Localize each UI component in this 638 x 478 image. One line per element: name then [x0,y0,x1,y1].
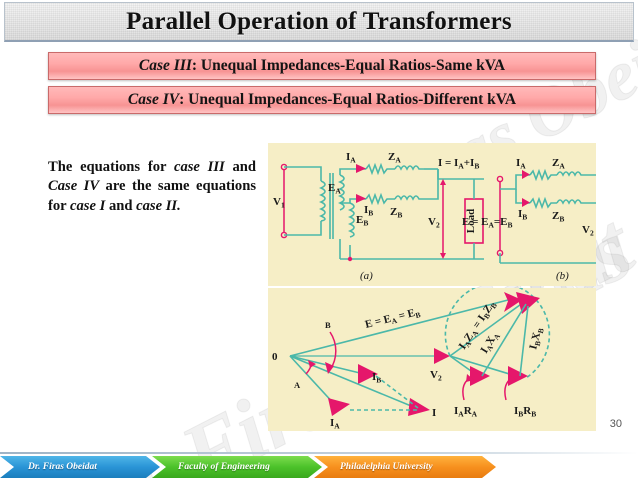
footer-bar: Dr. Firas Obeidat Faculty of Engineering… [0,456,638,478]
footer-author-label: Dr. Firas Obeidat [28,462,97,472]
label-iara: IARA [454,405,478,419]
current-arrow-ib-b [522,198,530,207]
label-v2-b: V2 [582,224,594,238]
phasor-ia-arrowhead [328,398,350,416]
footer-divider [0,452,638,454]
label-i-phasor: I [432,407,436,419]
phasor-i [290,356,416,408]
label-origin: 0 [272,351,278,363]
wire-b-out [424,169,438,199]
inductor-ba-icon [557,172,585,175]
label-ibrb: IBRB [514,405,536,419]
banner-case-iv-label: Case IV: Unequal Impedances-Equal Ratios… [128,91,516,109]
caption-figure-a: (a) [360,270,373,282]
footer-faculty-label: Faculty of Engineering [178,462,270,472]
label-ea: EA [328,182,341,196]
inductor-bb-icon [557,200,585,203]
footer-faculty-chevron: Faculty of Engineering [152,456,322,478]
banner-case-iii-emphasis: Case III [139,57,192,74]
label-ibxb: IBXB [527,326,545,351]
paragraph-part: The equations for [48,159,174,175]
label-v2-phasor: V2 [430,369,442,383]
label-v1: V1 [273,196,285,210]
wire-primary-bottom [284,221,321,235]
paragraph-part: and [225,159,256,175]
inductor-b-icon [395,196,424,199]
dash-ib-to-i [376,376,418,408]
circuit-figure-panel: V1 EA [268,143,596,286]
figure-a-group: V1 EA [273,151,484,282]
paragraph-part: case III [174,159,225,175]
label-ib-b: IB [518,208,527,222]
inductor-a-icon [395,166,424,169]
phasor-i-arrowhead [408,398,430,416]
label-e: E = EA = EB [364,306,422,333]
node-dot-a [348,257,352,261]
label-ia: IA [346,151,356,165]
footer-university-label: Philadelphia University [340,462,433,472]
circuit-diagrams-svg: V1 EA [268,143,596,286]
paragraph-part: case I [70,198,105,214]
angle-arc-b [330,332,336,370]
label-zb-b: ZB [552,210,564,224]
primary-coil-icon [321,181,325,221]
vector-ibxb [520,306,528,376]
resistor-b-icon [366,195,395,203]
label-ia-phasor: IA [330,417,340,431]
wire-ba-out [585,175,596,189]
footer-university-chevron: Philadelphia University [314,456,496,478]
terminal-top-b [497,176,502,181]
label-ib: IB [364,204,373,218]
paragraph-part: and [105,198,136,214]
banner-case-iii-label: Case III: Unequal Impedances-Equal Ratio… [139,57,505,75]
label-za-b: ZA [552,157,565,171]
label-angle-a: A [294,380,301,390]
current-arrow-ia-b [522,170,530,179]
paragraph-part: case II. [136,198,181,214]
phasor-diagram-svg: 0 E = EA = EB V2 IB IA I [268,288,596,431]
body-paragraph: The equations for case III and Case IV a… [48,158,256,216]
banner-case-iii: Case III: Unequal Impedances-Equal Ratio… [48,52,596,80]
banner-case-iv-rest: : Unequal Impedances-Equal Ratios-Differ… [179,91,516,108]
wire-b-branch-a-in [500,175,530,189]
resistor-ba-icon [530,171,557,179]
label-eb: EB [356,214,368,228]
wire-b-load-bottom [500,247,596,263]
paragraph-part: Case IV [48,178,99,194]
resistor-bb-icon [530,199,557,207]
page-number: 30 [610,418,622,430]
v2-arrowhead-bottom [440,253,446,259]
current-arrow-ia [356,164,366,173]
resistor-a-icon [366,165,395,173]
wire-out-top [438,169,484,179]
current-arrow-ib [356,194,366,203]
wire-primary-top [284,167,321,181]
banner-case-iv: Case IV: Unequal Impedances-Equal Ratios… [48,86,596,114]
banner-case-iii-rest: : Unequal Impedances-Equal Ratios-Same k… [192,57,505,74]
label-emf-b: E = EA=EB [462,216,513,230]
caption-figure-b: (b) [556,270,569,282]
label-zb: ZB [390,206,402,220]
label-v2: V2 [428,216,440,230]
label-angle-b: B [325,320,331,330]
label-ib-phasor: IB [372,371,381,385]
wire-bb-out [585,189,596,203]
label-ia-b: IA [516,157,526,171]
slide-root: Dr. Firas Obeidat Dr. Firas Obeidat Dr. … [0,0,638,478]
banner-case-iv-emphasis: Case IV [128,91,179,108]
label-za: ZA [388,151,401,165]
page-title: Parallel Operation of Transformers [126,8,512,36]
footer-author-chevron: Dr. Firas Obeidat [0,456,160,478]
slide-title-bar: Parallel Operation of Transformers [4,2,634,42]
secondary-coil-b-icon [350,203,354,237]
label-total-current: I = IA+IB [438,157,479,171]
phasor-figure-panel: 0 E = EA = EB V2 IB IA I [268,288,596,431]
figure-b-group: E = EA=EB IA IB ZA ZB I [462,157,596,282]
phasor-v2-arrowhead [434,348,450,364]
v2-arrowhead-top [440,179,446,185]
